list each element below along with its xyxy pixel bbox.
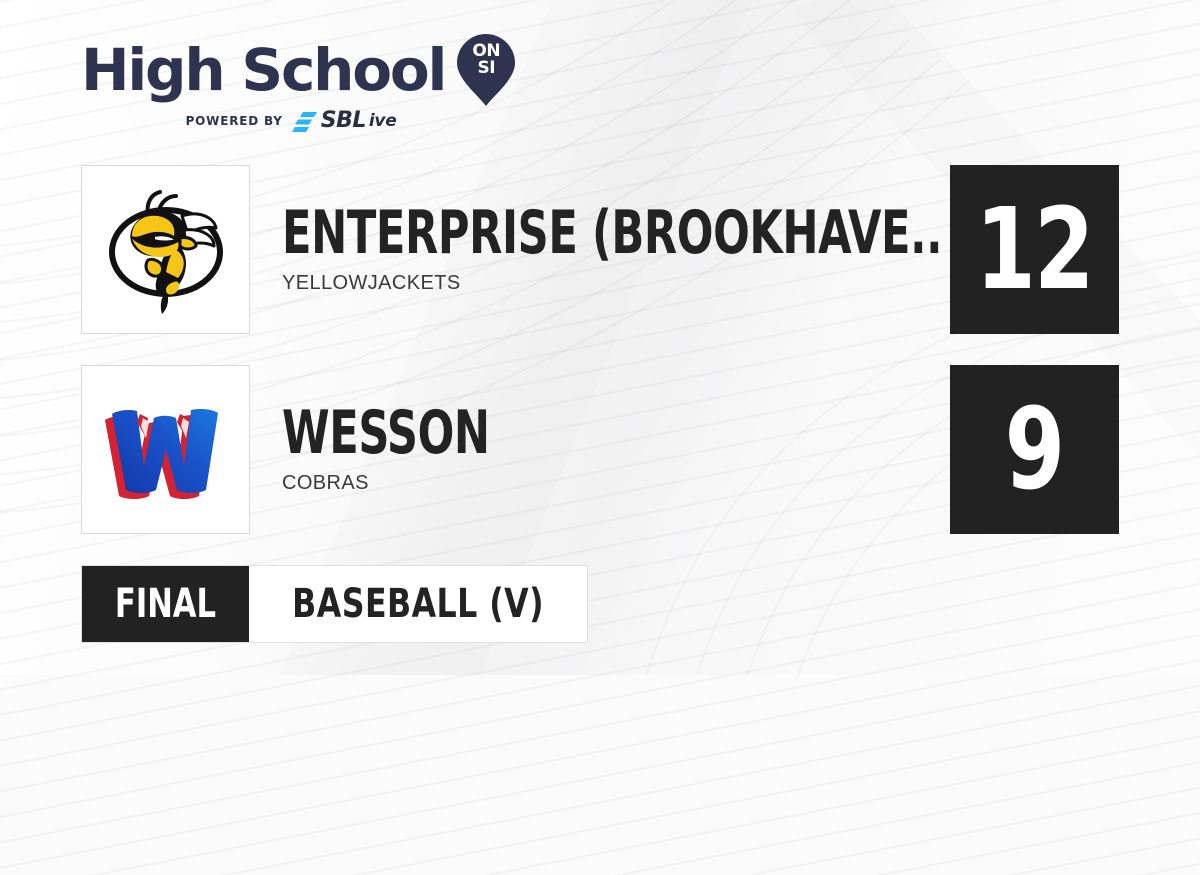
powered-by-label: POWERED BY <box>186 114 283 128</box>
pin-line-si: SI <box>457 60 515 77</box>
team-logo-box <box>81 165 250 334</box>
team-score-box: 9 <box>950 365 1119 534</box>
sblive-s-mark <box>292 110 318 132</box>
sblive-text-italic: ive <box>369 113 397 130</box>
brand-logo-row: High School ON SI <box>81 34 515 106</box>
status-badge: FINAL <box>82 566 249 642</box>
team-logo-box <box>81 365 250 534</box>
team-score: 12 <box>976 194 1093 306</box>
wesson-w-logo <box>96 380 236 520</box>
brand-header: High School ON SI POWERED BY SBLive <box>81 34 515 132</box>
sblive-logo: SBLive <box>292 110 397 132</box>
team-score: 9 <box>1005 394 1064 506</box>
team-score-box: 12 <box>950 165 1119 334</box>
sport-label-container: BASEBALL (V) <box>249 566 587 642</box>
status-state-label: FINAL <box>115 581 216 627</box>
game-status-bar: FINAL BASEBALL (V) <box>81 565 588 643</box>
team-name: WESSON <box>282 404 810 462</box>
team-mascot: YELLOWJACKETS <box>282 272 942 295</box>
powered-by-row: POWERED BY SBLive <box>81 110 501 132</box>
yellowjacket-mascot-logo <box>96 180 236 320</box>
on-si-pin-icon: ON SI <box>457 34 515 106</box>
brand-title: High School <box>81 41 445 99</box>
on-si-pin-text: ON SI <box>457 43 515 77</box>
team-row: ENTERPRISE (BROOKHAVE.. YELLOWJACKETS 12 <box>0 165 1200 334</box>
sport-label: BASEBALL (V) <box>292 581 544 627</box>
team-row: WESSON COBRAS 9 <box>0 365 1200 534</box>
team-text-block: ENTERPRISE (BROOKHAVE.. YELLOWJACKETS <box>282 165 942 334</box>
sblive-text-bold: SBL <box>321 110 366 132</box>
team-mascot: COBRAS <box>282 472 942 495</box>
team-name: ENTERPRISE (BROOKHAVE.. <box>282 204 810 262</box>
team-text-block: WESSON COBRAS <box>282 365 942 534</box>
